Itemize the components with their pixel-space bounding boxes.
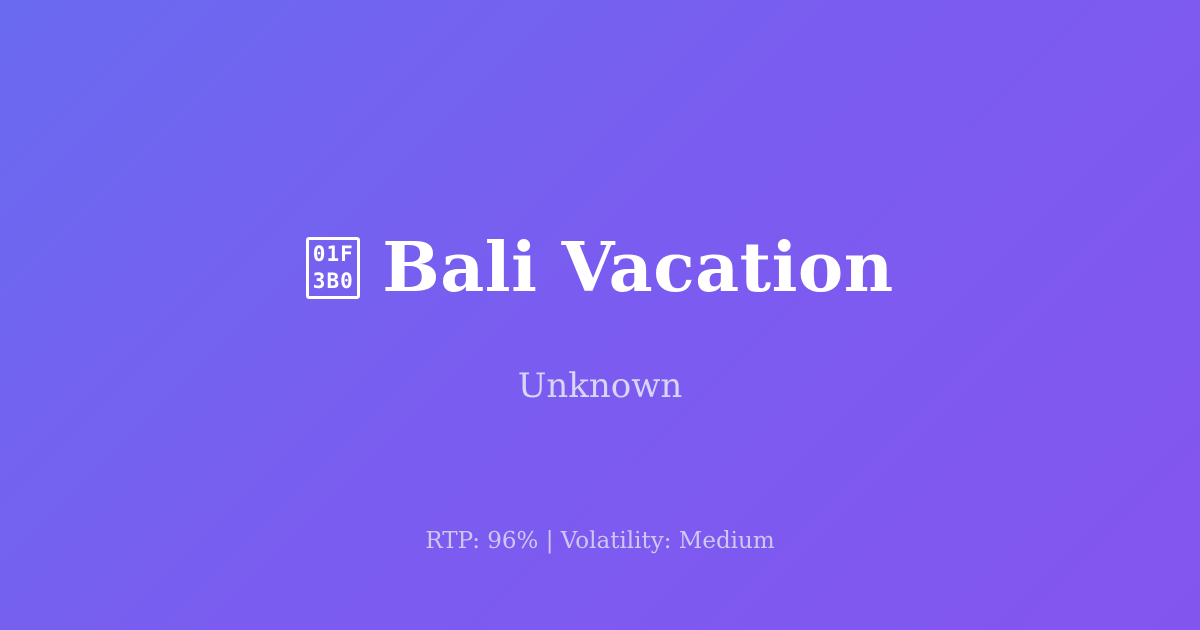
missing-glyph-tofu-icon: 01F 3B0 [306,237,360,299]
title-row: 01F 3B0 Bali Vacation [0,234,1200,302]
game-preview-card: 01F 3B0 Bali Vacation Unknown RTP: 96% |… [0,0,1200,630]
game-meta-info: RTP: 96% | Volatility: Medium [0,528,1200,556]
tofu-codepoint-line2: 3B0 [313,268,354,295]
provider-subtitle: Unknown [0,366,1200,407]
tofu-codepoint-line1: 01F [313,241,354,268]
page-title: Bali Vacation [382,234,893,302]
